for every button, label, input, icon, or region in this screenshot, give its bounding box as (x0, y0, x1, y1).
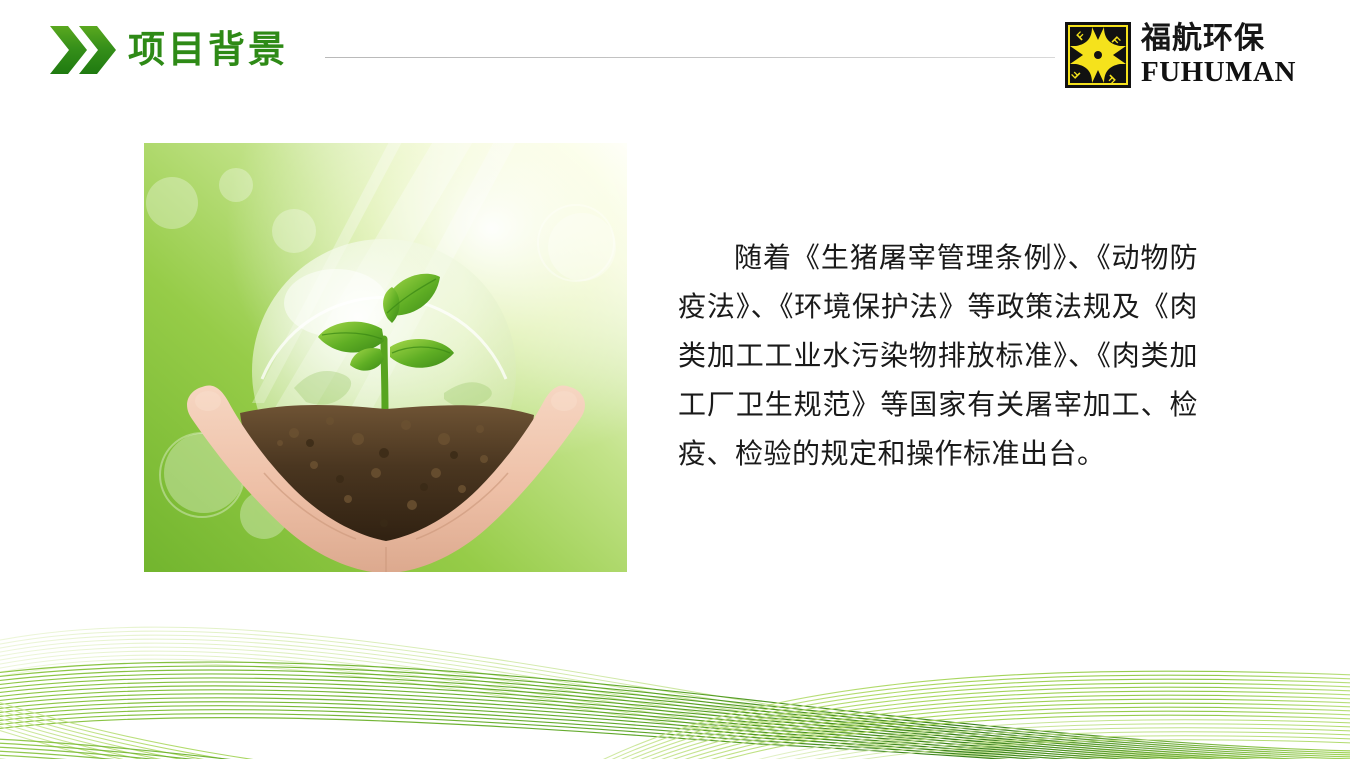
title-group: 项目背景 (48, 22, 288, 78)
slide: 项目背景 (0, 0, 1350, 759)
fuhuman-emblem-icon: F F F F (1065, 22, 1131, 88)
slide-header: 项目背景 (0, 0, 1350, 110)
body-paragraph: 随着《生猪屠宰管理条例》、《动物防疫法》、《环境保护法》等政策法规及《肉类加工工… (678, 234, 1198, 479)
logo-english-name: FUHUMAN (1141, 57, 1296, 87)
brand-logo: F F F F 福航环保 FUHUMAN (1065, 20, 1296, 90)
logo-text-block: 福航环保 FUHUMAN (1141, 23, 1296, 87)
logo-chinese-name: 福航环保 (1141, 23, 1296, 55)
header-divider (325, 57, 1055, 58)
page-title: 项目背景 (128, 32, 288, 69)
hands-holding-sprout-photo (144, 143, 627, 572)
green-ribbon-wave (0, 589, 1350, 759)
double-chevron-right-icon (48, 24, 122, 76)
